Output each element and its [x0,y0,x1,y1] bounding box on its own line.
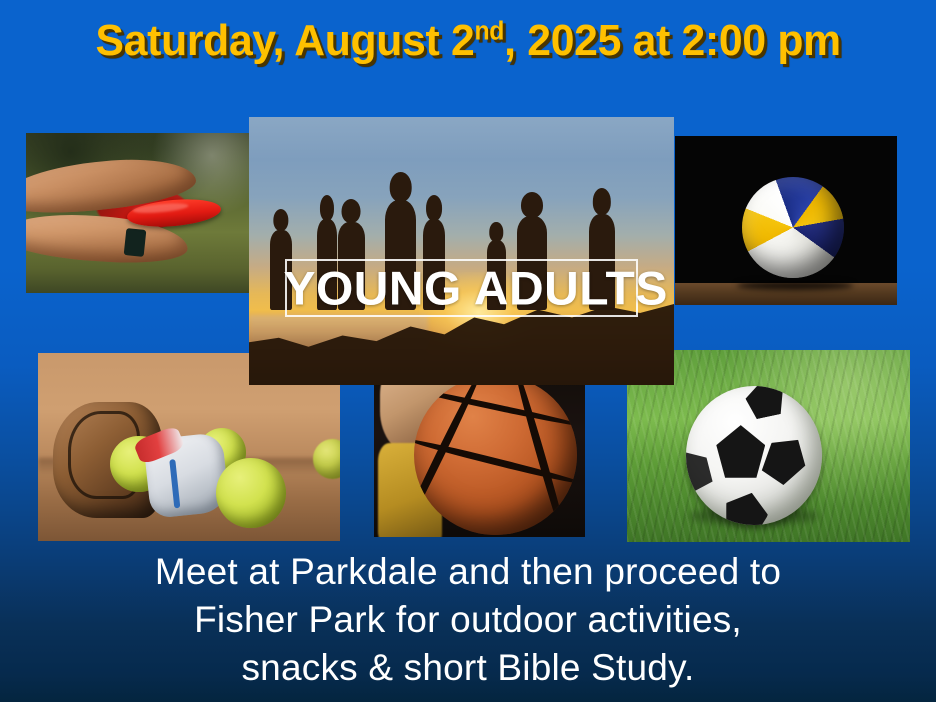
basketball-seam [510,375,573,535]
soccer-ball-panel [686,445,718,494]
photo-basketball [374,363,585,537]
frisbee-wristband [123,228,146,257]
title-container: Saturday, August 2nd, 2025 at 2:00 pm [0,18,936,64]
volleyball-shadow [737,281,852,289]
title-prefix: Saturday, August 2 [95,16,474,65]
soccer-ball-panel [716,425,765,478]
caption-line-3: snacks & short Bible Study. [0,644,936,692]
caption-line-2: Fisher Park for outdoor activities, [0,596,936,644]
title-ordinal-suffix: nd [474,17,504,45]
photo-frisbee [26,133,250,293]
title-suffix: , 2025 at 2:00 pm [504,16,841,65]
photo-volleyball [675,136,897,305]
hero-overlay-frame: YOUNG ADULTS [285,259,638,317]
event-date-title: Saturday, August 2nd, 2025 at 2:00 pm [95,18,840,64]
soccer-ball [686,386,822,524]
event-announcement-slide: Saturday, August 2nd, 2025 at 2:00 pm [0,0,936,702]
photo-young-adults-hero: YOUNG ADULTS [249,117,674,385]
basketball-ball [414,375,576,535]
event-details-caption: Meet at Parkdale and then proceed to Fis… [0,548,936,692]
soccer-ball-panel [719,486,773,524]
volleyball-ball [742,177,844,278]
softball-batting-glove [143,432,229,519]
soccer-ball-panel [743,386,788,420]
caption-line-1: Meet at Parkdale and then proceed to [0,548,936,596]
soccer-ball-panel [756,429,815,490]
softball-ball [216,458,285,528]
basketball-seam [414,385,576,429]
hero-overlay-text: YOUNG ADULTS [284,260,640,315]
